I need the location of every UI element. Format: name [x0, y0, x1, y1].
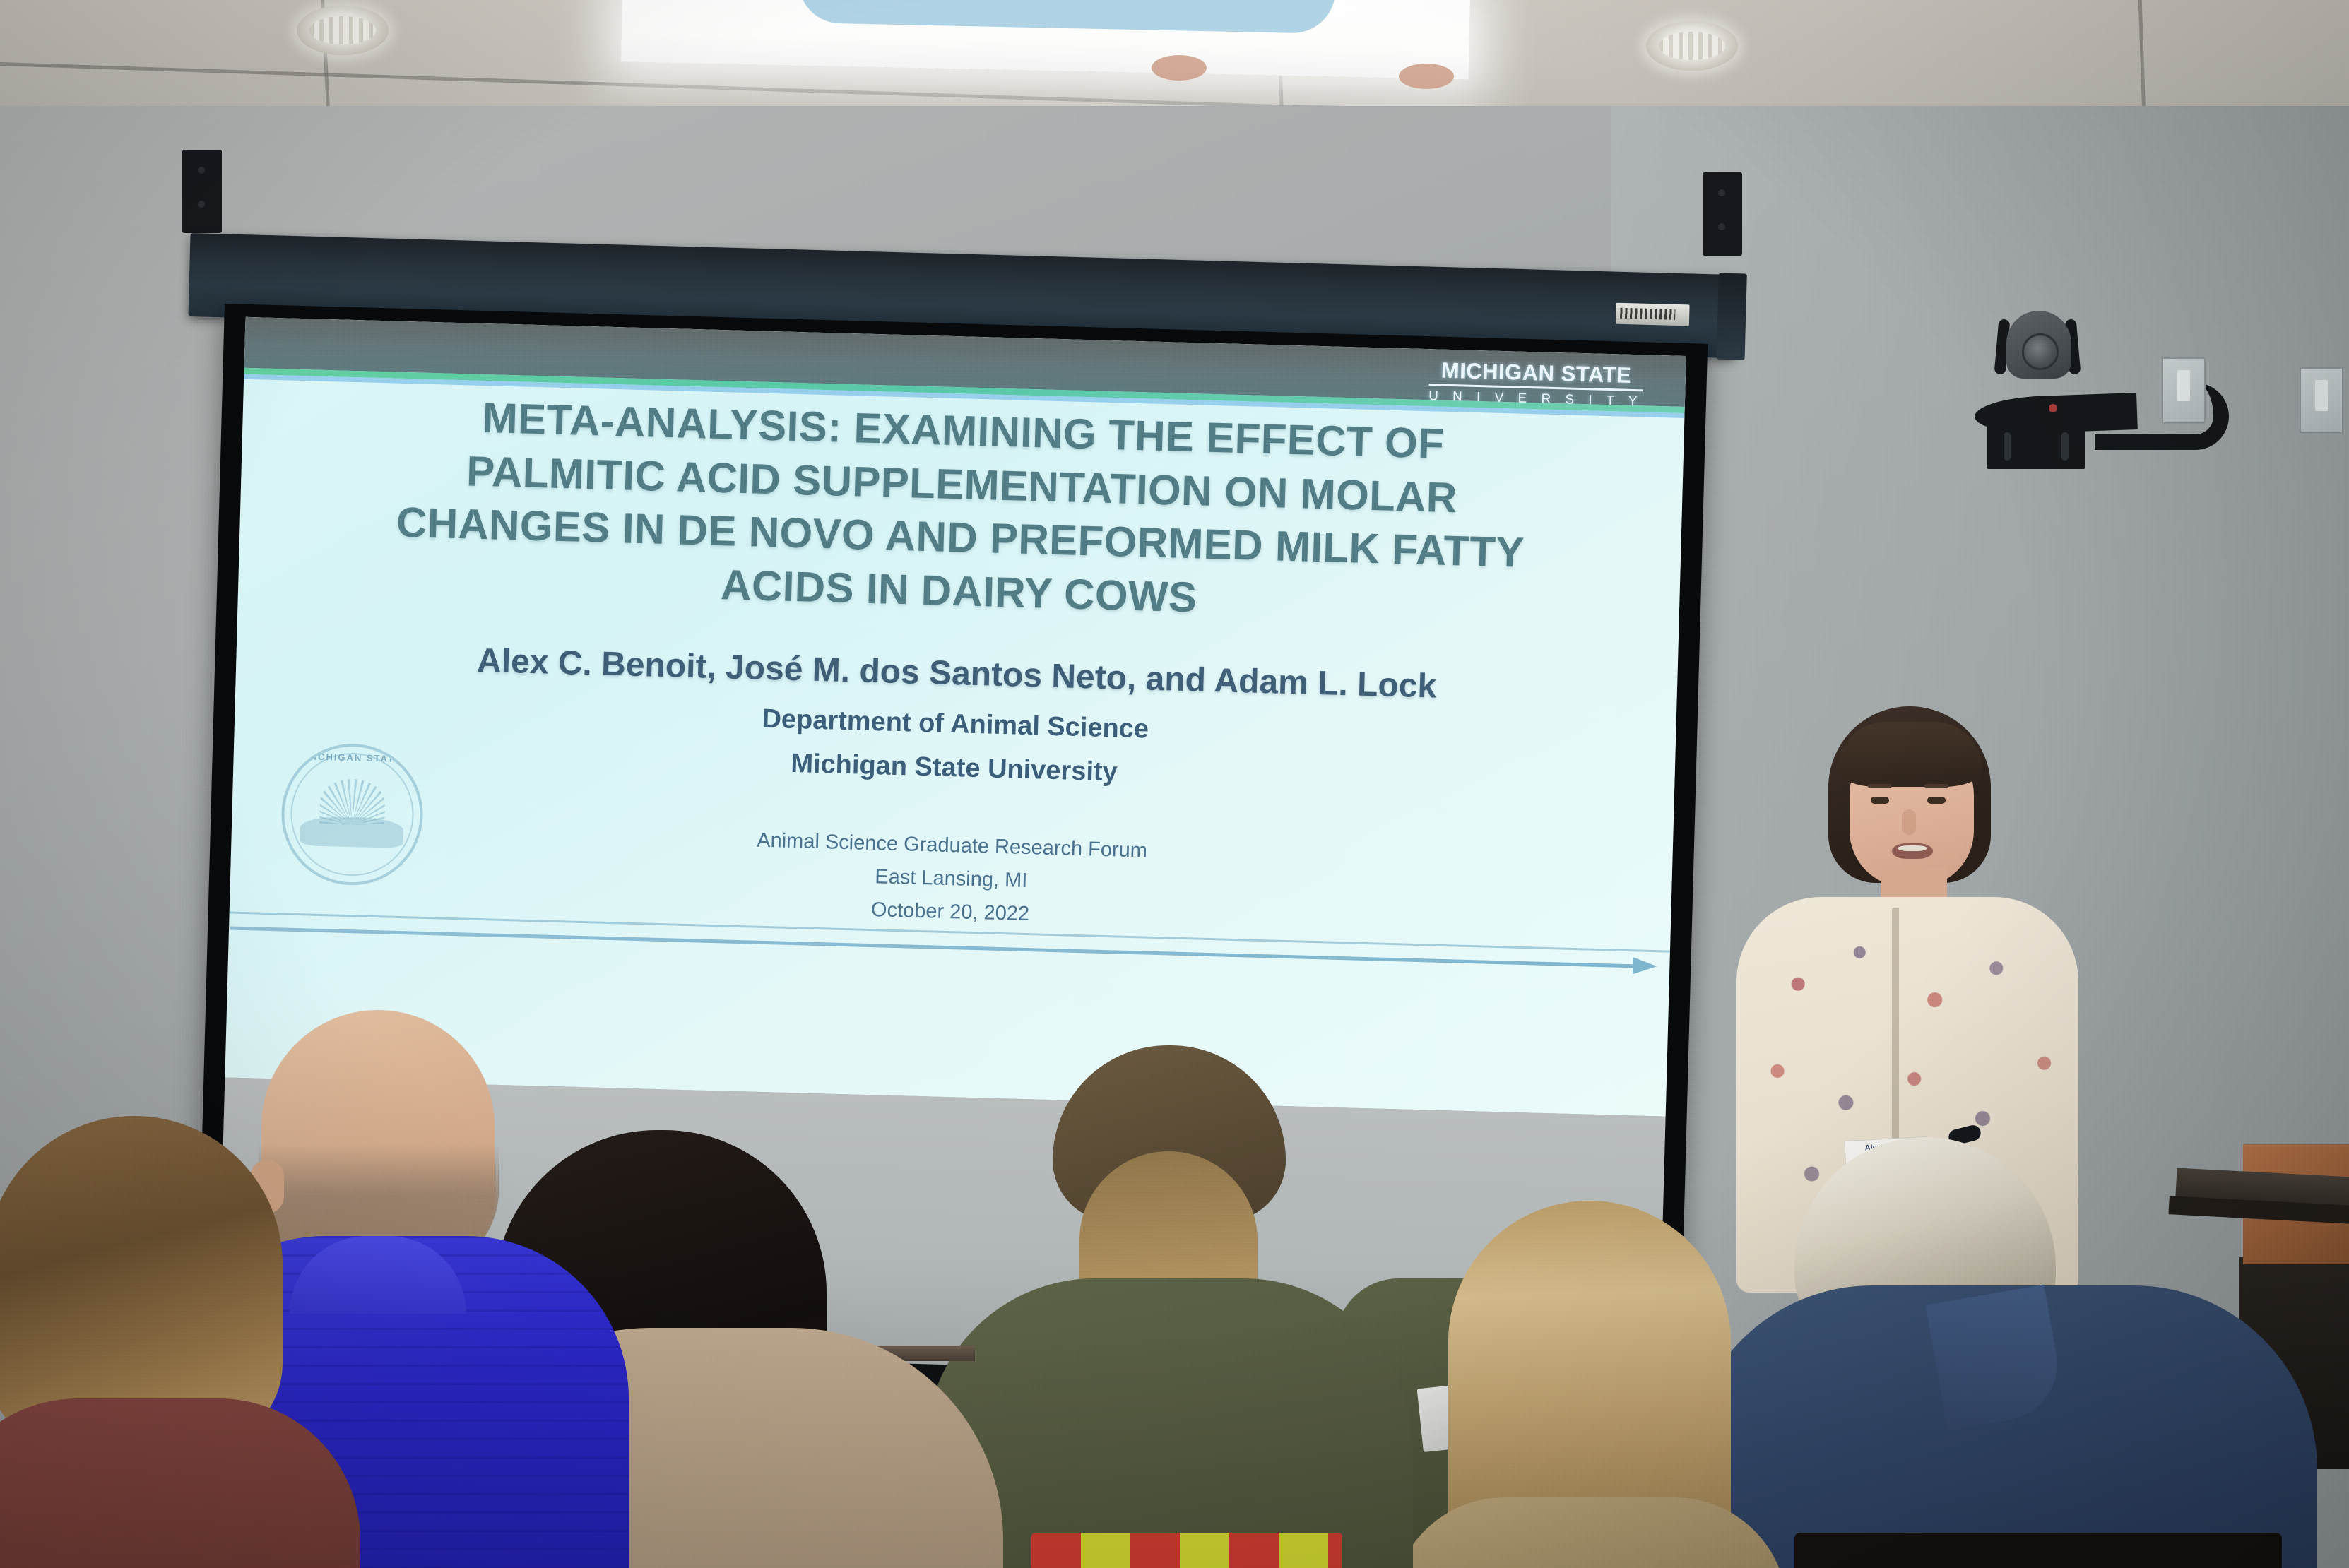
wall-outlet-plate[interactable]	[2300, 367, 2343, 434]
camera-lens-icon	[2022, 333, 2059, 370]
ceiling-light-fixture-dot	[1399, 64, 1454, 89]
presenter-nose	[1902, 809, 1916, 835]
presenter-eye-left	[1871, 797, 1889, 804]
camera-status-led	[2049, 404, 2057, 412]
presenter-eyebrow-right	[1924, 784, 1948, 788]
striped-object	[1031, 1533, 1342, 1568]
housing-end-cap	[1717, 273, 1747, 360]
audience-member-navy-blazer	[1717, 1137, 2282, 1568]
camera-wall-base	[1987, 424, 2085, 469]
presenter-eye-right	[1927, 797, 1946, 804]
audience-shoulders	[0, 1398, 360, 1568]
wall-outlet-plate[interactable]	[2162, 357, 2206, 424]
lecture-room-photo: MICHIGAN STATE U N I V E R S I T Y META-…	[0, 0, 2349, 1568]
slide-title: META-ANALYSIS: EXAMINING THE EFFECT OF P…	[324, 387, 1598, 635]
audience-member-ponytail-olive	[947, 1045, 1385, 1568]
recessed-downlight-icon	[1646, 21, 1738, 71]
msu-wordmark-line1: MICHIGAN STATE	[1428, 359, 1643, 391]
housing-label	[1616, 303, 1690, 326]
presenter-eyebrow-left	[1868, 784, 1892, 788]
ceiling-light-fixture-dot	[1152, 55, 1207, 81]
recessed-downlight-icon	[297, 6, 389, 55]
screen-mount-bracket-left	[182, 150, 222, 233]
screen-mount-bracket-right	[1703, 172, 1742, 256]
chair-back	[1794, 1533, 2282, 1568]
projected-slide: MICHIGAN STATE U N I V E R S I T Y META-…	[225, 317, 1686, 1117]
msu-wordmark-logo: MICHIGAN STATE U N I V E R S I T Y	[1428, 359, 1644, 408]
presenter-hair-front	[1838, 722, 1982, 787]
audience-member-maroon-top	[0, 1116, 353, 1568]
presenter-mouth	[1892, 843, 1933, 859]
audience-member-long-blonde	[1399, 1201, 1766, 1568]
seal-landscape	[300, 816, 403, 848]
arrow-head-icon	[1633, 957, 1657, 975]
